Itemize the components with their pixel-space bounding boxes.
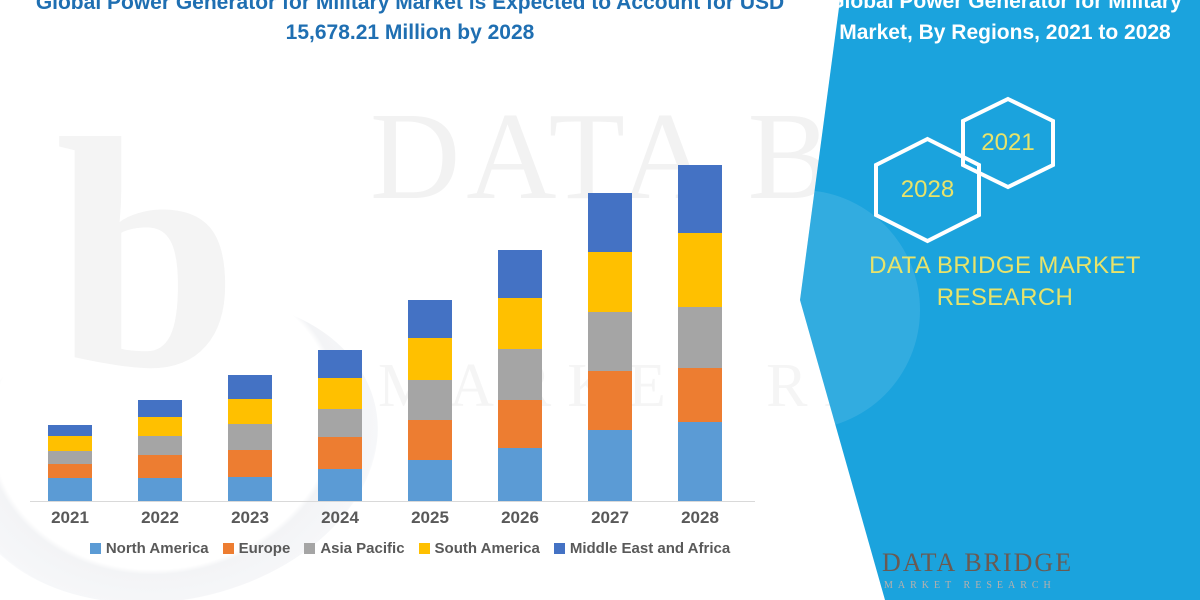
bar-segment[interactable]: [498, 400, 542, 448]
legend-swatch-icon: [304, 543, 315, 554]
hexagon-2021-label: 2021: [981, 129, 1034, 157]
bar-segment[interactable]: [408, 380, 452, 420]
bar-column-2021[interactable]: [48, 425, 92, 501]
brand-logo-text: DATA BRIDGE: [882, 548, 1073, 578]
x-axis-label-2024: 2024: [295, 508, 385, 528]
hexagon-2028-label: 2028: [901, 176, 954, 204]
bar-segment[interactable]: [498, 448, 542, 501]
bar-segment[interactable]: [138, 455, 182, 478]
bar-segment[interactable]: [48, 451, 92, 464]
hexagon-2021: 2021: [958, 95, 1058, 191]
bar-segment[interactable]: [588, 430, 632, 501]
chart-legend: North AmericaEuropeAsia PacificSouth Ame…: [30, 540, 790, 557]
bar-segment[interactable]: [588, 312, 632, 371]
bar-segment[interactable]: [678, 422, 722, 501]
bar-segment[interactable]: [228, 375, 272, 399]
brand-company-name: DATA BRIDGE MARKET RESEARCH: [820, 250, 1190, 314]
bar-segment[interactable]: [318, 409, 362, 437]
bar-segment[interactable]: [498, 298, 542, 349]
bar-column-2022[interactable]: [138, 400, 182, 501]
brand-panel: Global Power Generator for Military Mark…: [800, 0, 1200, 600]
chart-title: Global Power Generator for Military Mark…: [30, 0, 790, 48]
legend-label: Europe: [239, 540, 291, 557]
bar-column-2024[interactable]: [318, 350, 362, 501]
x-axis-label-2023: 2023: [205, 508, 295, 528]
bar-segment[interactable]: [228, 399, 272, 424]
bar-segment[interactable]: [48, 464, 92, 478]
bar-segment[interactable]: [138, 400, 182, 417]
legend-swatch-icon: [554, 543, 565, 554]
bar-segment[interactable]: [498, 250, 542, 298]
legend-item[interactable]: South America: [419, 540, 540, 557]
legend-item[interactable]: Middle East and Africa: [554, 540, 730, 557]
bar-segment[interactable]: [138, 436, 182, 455]
chart-plot-area: [30, 110, 790, 502]
x-axis-label-2025: 2025: [385, 508, 475, 528]
bar-segment[interactable]: [678, 307, 722, 368]
bar-column-2028[interactable]: [678, 165, 722, 501]
bar-segment[interactable]: [588, 371, 632, 430]
bar-segment[interactable]: [588, 193, 632, 252]
bar-column-2023[interactable]: [228, 375, 272, 501]
bar-segment[interactable]: [138, 417, 182, 436]
legend-item[interactable]: Asia Pacific: [304, 540, 404, 557]
bar-segment[interactable]: [138, 478, 182, 501]
legend-item[interactable]: Europe: [223, 540, 291, 557]
bar-segment[interactable]: [408, 460, 452, 501]
bar-segment[interactable]: [228, 424, 272, 450]
legend-label: North America: [106, 540, 209, 557]
bar-segment[interactable]: [318, 469, 362, 501]
bar-segment[interactable]: [498, 349, 542, 400]
bar-segment[interactable]: [678, 233, 722, 307]
brand-logo-subtext: MARKET RESEARCH: [884, 580, 1056, 591]
bar-segment[interactable]: [48, 436, 92, 451]
bar-segment[interactable]: [228, 477, 272, 501]
chart-panel: Global Power Generator for Military Mark…: [0, 0, 840, 600]
bar-segment[interactable]: [318, 437, 362, 469]
bar-segment[interactable]: [588, 252, 632, 312]
x-axis-label-2021: 2021: [25, 508, 115, 528]
bar-segment[interactable]: [408, 338, 452, 380]
bar-segment[interactable]: [408, 300, 452, 338]
bar-column-2025[interactable]: [408, 300, 452, 501]
legend-swatch-icon: [419, 543, 430, 554]
bar-segment[interactable]: [48, 478, 92, 501]
bar-segment[interactable]: [408, 420, 452, 460]
bar-segment[interactable]: [678, 165, 722, 233]
legend-label: Middle East and Africa: [570, 540, 730, 557]
chart-baseline: [30, 501, 755, 502]
bar-column-2026[interactable]: [498, 250, 542, 501]
bar-segment[interactable]: [678, 368, 722, 422]
x-axis-label-2022: 2022: [115, 508, 205, 528]
bar-segment[interactable]: [318, 378, 362, 409]
legend-swatch-icon: [90, 543, 101, 554]
brand-panel-title: Global Power Generator for Military Mark…: [820, 0, 1190, 48]
legend-swatch-icon: [223, 543, 234, 554]
brand-logo: DATA BRIDGE MARKET RESEARCH: [822, 538, 1182, 600]
hexagon-group: 2028 2021: [830, 95, 1190, 245]
x-axis-label-2027: 2027: [565, 508, 655, 528]
bar-segment[interactable]: [318, 350, 362, 378]
x-axis-label-2028: 2028: [655, 508, 745, 528]
chart-x-axis: 20212022202320242025202620272028: [30, 508, 790, 534]
legend-item[interactable]: North America: [90, 540, 209, 557]
legend-label: Asia Pacific: [320, 540, 404, 557]
bar-segment[interactable]: [228, 450, 272, 477]
bar-segment[interactable]: [48, 425, 92, 436]
x-axis-label-2026: 2026: [475, 508, 565, 528]
legend-label: South America: [435, 540, 540, 557]
bar-column-2027[interactable]: [588, 193, 632, 501]
